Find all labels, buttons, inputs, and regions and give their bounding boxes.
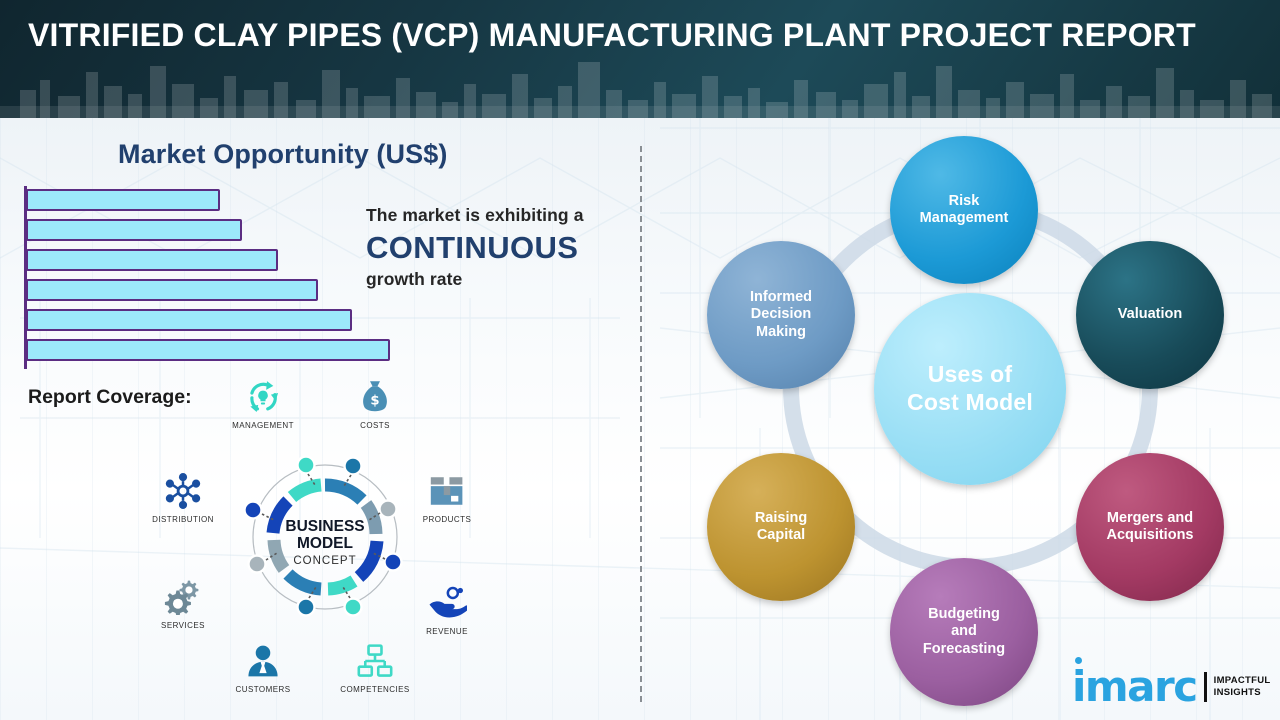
logo-tagline-line-1: IMPACTFUL	[1214, 675, 1271, 687]
node-label-line: and	[923, 623, 1005, 640]
coverage-label: REVENUE	[392, 627, 502, 636]
node-label-line: Forecasting	[923, 641, 1005, 658]
logo-wordmark: imarc	[1072, 666, 1197, 708]
coverage-label: SERVICES	[128, 621, 238, 630]
coverage-item-management: MANAGEMENT	[208, 376, 318, 430]
coverage-label: COSTS	[320, 421, 430, 430]
bar-row	[26, 219, 242, 241]
panel-divider	[640, 146, 642, 702]
node-raising-capital[interactable]: Raising Capital	[707, 453, 855, 601]
recycle-bulb-icon	[208, 376, 318, 418]
callout-line-1: The market is exhibiting a	[366, 205, 636, 226]
bm-line-2: MODEL	[297, 535, 353, 552]
node-valuation[interactable]: Valuation	[1076, 241, 1224, 389]
center-node-line-2: Cost Model	[907, 389, 1033, 417]
business-model-wheel: BUSINESS MODEL CONCEPT	[240, 452, 410, 622]
market-opportunity-bar-chart	[24, 186, 414, 369]
callout-emphasis: CONTINUOUS	[366, 230, 636, 266]
imarc-logo: imarc IMPACTFUL INSIGHTS	[1072, 662, 1272, 712]
coverage-item-customers: CUSTOMERS	[208, 640, 318, 694]
uses-of-cost-model-diagram: Uses of Cost Model Risk Management Valua…	[690, 128, 1260, 708]
coverage-item-distribution: DISTRIBUTION	[128, 470, 238, 524]
callout-line-3: growth rate	[366, 269, 636, 290]
person-icon	[208, 640, 318, 682]
page-title: Vitrified Clay Pipes (VCP) Manufacturing…	[28, 14, 1208, 56]
node-label-line: Raising	[755, 510, 807, 527]
coverage-label: DISTRIBUTION	[128, 515, 238, 524]
node-budgeting-and-forecasting[interactable]: Budgeting and Forecasting	[890, 558, 1038, 706]
logo-tagline-line-2: INSIGHTS	[1214, 687, 1271, 699]
node-label-line: Acquisitions	[1106, 527, 1193, 544]
node-risk-management[interactable]: Risk Management	[890, 136, 1038, 284]
org-chart-icon	[320, 640, 430, 682]
node-label-line: Mergers and	[1106, 510, 1193, 527]
node-label-line: Decision	[750, 306, 812, 323]
node-label-line: Making	[750, 324, 812, 341]
coverage-label: CUSTOMERS	[208, 685, 318, 694]
slide-canvas: Vitrified Clay Pipes (VCP) Manufacturing…	[0, 0, 1280, 720]
center-node-line-1: Uses of	[907, 361, 1033, 389]
market-opportunity-title: Market Opportunity (US$)	[118, 139, 447, 170]
gears-icon	[128, 576, 238, 618]
node-label-line: Informed	[750, 289, 812, 306]
logo-divider-bar	[1204, 672, 1207, 702]
coverage-label: MANAGEMENT	[208, 421, 318, 430]
svg-text:$: $	[370, 393, 379, 408]
city-skyline-graphic	[0, 60, 1280, 118]
node-label-line: Management	[920, 210, 1009, 227]
bar-row	[26, 189, 220, 211]
header-banner: Vitrified Clay Pipes (VCP) Manufacturing…	[0, 0, 1280, 118]
bar-row	[26, 249, 278, 271]
network-nodes-icon	[128, 470, 238, 512]
node-label-line: Capital	[755, 527, 807, 544]
node-label-line: Budgeting	[923, 606, 1005, 623]
logo-dot	[1075, 657, 1082, 664]
node-label-line: Risk	[920, 193, 1009, 210]
node-label-line: Valuation	[1118, 306, 1182, 323]
coverage-item-competencies: COMPETENCIES	[320, 640, 430, 694]
coverage-label: COMPETENCIES	[320, 685, 430, 694]
bm-line-1: BUSINESS	[285, 518, 364, 535]
report-coverage-diagram: MANAGEMENT $ COSTS	[130, 370, 510, 705]
center-node-uses-of-cost-model: Uses of Cost Model	[874, 293, 1066, 485]
coverage-item-services: SERVICES	[128, 576, 238, 630]
bar-row	[26, 279, 318, 301]
bar-row	[26, 309, 352, 331]
node-informed-decision-making[interactable]: Informed Decision Making	[707, 241, 855, 389]
growth-callout: The market is exhibiting a CONTINUOUS gr…	[366, 205, 636, 290]
bm-line-3: CONCEPT	[293, 555, 356, 567]
money-bag-icon: $	[320, 376, 430, 418]
node-mergers-and-acquisitions[interactable]: Mergers and Acquisitions	[1076, 453, 1224, 601]
coverage-item-costs: $ COSTS	[320, 376, 430, 430]
bar-row	[26, 339, 390, 361]
